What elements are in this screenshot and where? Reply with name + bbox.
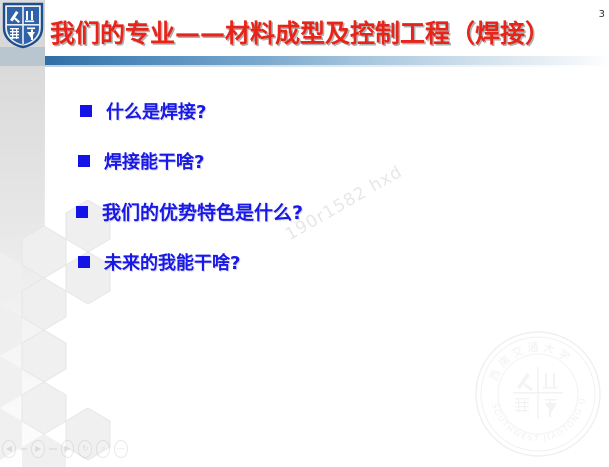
slide-number: 3 — [599, 9, 605, 20]
list-item-label: 什么是焊接? — [106, 98, 206, 124]
next-button[interactable]: ▶ — [61, 440, 75, 458]
svg-text:SOUTHWEST JIAOTONG UNIVERSITY: SOUTHWEST JIAOTONG UNIVERSITY — [473, 329, 587, 443]
header-accent-bar — [45, 56, 609, 65]
search-button[interactable]: ⌕ — [96, 440, 110, 458]
play-button[interactable]: ▶ — [31, 440, 45, 458]
repeat-button[interactable]: ↻ — [78, 440, 92, 458]
square-bullet-icon — [78, 256, 90, 268]
square-bullet-icon — [76, 206, 88, 218]
university-seal-watermark-icon: 西南交通大学 SOUTHWEST JIAOTONG UNIVERSITY — [473, 329, 603, 459]
header-left-fill — [0, 47, 45, 66]
square-bullet-icon — [78, 155, 90, 167]
minimize-button[interactable]: — — [114, 440, 128, 458]
list-item[interactable]: 焊接能干啥? — [78, 148, 578, 174]
square-bullet-icon — [80, 105, 92, 117]
left-panel-edge — [44, 0, 45, 467]
presentation-slide: 我们的专业——材料成型及控制工程（焊接） 3 什么是焊接? 焊接能干啥? 我们的… — [0, 0, 609, 467]
media-connector — [49, 448, 56, 450]
left-side-panel — [0, 0, 45, 467]
list-item[interactable]: 未来的我能干啥? — [78, 249, 578, 275]
media-control-bar[interactable]: ◀ ▶ ▶ ↻ ⌕ — — [2, 440, 128, 458]
list-item-label: 我们的优势特色是什么? — [102, 198, 303, 225]
media-connector — [20, 448, 27, 450]
bullet-list: 什么是焊接? 焊接能干啥? 我们的优势特色是什么? 未来的我能干啥? — [78, 98, 578, 299]
list-item-label: 焊接能干啥? — [104, 148, 204, 174]
header-accent-bar-shadow — [45, 65, 609, 67]
previous-button[interactable]: ◀ — [2, 440, 16, 458]
list-item-label: 未来的我能干啥? — [104, 249, 240, 275]
list-item[interactable]: 我们的优势特色是什么? — [76, 198, 578, 225]
southwest-jiaotong-university-shield-icon — [2, 2, 44, 49]
slide-title: 我们的专业——材料成型及控制工程（焊接） — [50, 14, 580, 50]
svg-text:西南交通大学: 西南交通大学 — [487, 340, 576, 383]
list-item[interactable]: 什么是焊接? — [80, 98, 578, 124]
